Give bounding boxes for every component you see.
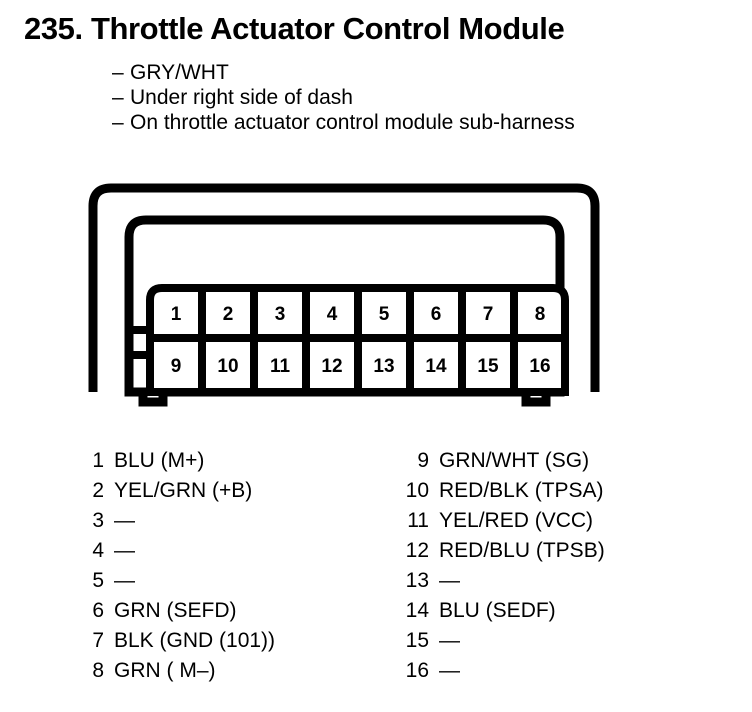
legend-pin-label: —	[104, 536, 135, 566]
legend-row: 11 YEL/RED (VCC)	[385, 506, 715, 536]
note-dash-icon: –	[112, 110, 130, 135]
legend-pin-label: —	[104, 566, 135, 596]
legend-pin-label: GRN ( M–)	[104, 656, 216, 686]
note-item: – GRY/WHT	[112, 60, 712, 85]
legend-pin-label: GRN/WHT (SG)	[429, 446, 589, 476]
legend-pin-number: 15	[385, 626, 429, 656]
legend-row: 6 GRN (SEFD)	[60, 596, 380, 626]
pin-cell-1[interactable]: 1	[171, 304, 182, 325]
page-title: 235. Throttle Actuator Control Module	[24, 11, 564, 47]
pin-cell-9[interactable]: 9	[171, 356, 182, 377]
legend-pin-label: BLU (M+)	[104, 446, 204, 476]
pin-cell-13[interactable]: 13	[373, 356, 394, 377]
legend-pin-label: RED/BLK (TPSA)	[429, 476, 604, 506]
note-dash-icon: –	[112, 60, 130, 85]
legend-row: 1 BLU (M+)	[60, 446, 380, 476]
note-text: On throttle actuator control module sub-…	[130, 110, 575, 135]
note-item: – On throttle actuator control module su…	[112, 110, 712, 135]
legend-pin-number: 4	[60, 536, 104, 566]
pin-cell-2[interactable]: 2	[223, 304, 234, 325]
legend-row: 5 —	[60, 566, 380, 596]
legend-row: 14 BLU (SEDF)	[385, 596, 715, 626]
legend-row: 15 —	[385, 626, 715, 656]
note-text: GRY/WHT	[130, 60, 229, 85]
legend-pin-label: —	[429, 626, 460, 656]
connector-diagram: 1 2 3 4 5 6 7 8 9 10 11 12 13 14 15 16	[80, 180, 610, 420]
pin-cell-16[interactable]: 16	[529, 356, 550, 377]
legend-row: 7 BLK (GND (101))	[60, 626, 380, 656]
legend-pin-number: 5	[60, 566, 104, 596]
legend-pin-number: 16	[385, 656, 429, 686]
legend-row: 12 RED/BLU (TPSB)	[385, 536, 715, 566]
pin-cell-15[interactable]: 15	[477, 356, 499, 377]
legend-pin-number: 12	[385, 536, 429, 566]
pin-legend-right-column: 9 GRN/WHT (SG) 10 RED/BLK (TPSA) 11 YEL/…	[385, 446, 715, 686]
legend-pin-number: 8	[60, 656, 104, 686]
note-item: – Under right side of dash	[112, 85, 712, 110]
legend-pin-number: 1	[60, 446, 104, 476]
connector-notes: – GRY/WHT – Under right side of dash – O…	[112, 60, 712, 135]
pin-cell-12[interactable]: 12	[321, 356, 342, 377]
note-dash-icon: –	[112, 85, 130, 110]
note-text: Under right side of dash	[130, 85, 353, 110]
legend-pin-label: —	[429, 566, 460, 596]
legend-pin-label: YEL/RED (VCC)	[429, 506, 593, 536]
pin-cell-11[interactable]: 11	[270, 356, 291, 377]
legend-pin-number: 13	[385, 566, 429, 596]
pin-cell-14[interactable]: 14	[425, 356, 447, 377]
pin-legend: 1 BLU (M+) 2 YEL/GRN (+B) 3 — 4 — 5 — 6 …	[0, 446, 752, 696]
pin-cell-6[interactable]: 6	[431, 304, 442, 325]
legend-pin-number: 6	[60, 596, 104, 626]
pin-legend-left-column: 1 BLU (M+) 2 YEL/GRN (+B) 3 — 4 — 5 — 6 …	[60, 446, 380, 686]
legend-row: 4 —	[60, 536, 380, 566]
pin-cell-5[interactable]: 5	[379, 304, 390, 325]
pin-cell-10[interactable]: 10	[217, 356, 238, 377]
legend-row: 10 RED/BLK (TPSA)	[385, 476, 715, 506]
legend-pin-label: RED/BLU (TPSB)	[429, 536, 605, 566]
legend-pin-number: 9	[385, 446, 429, 476]
legend-row: 9 GRN/WHT (SG)	[385, 446, 715, 476]
legend-row: 13 —	[385, 566, 715, 596]
legend-pin-label: BLU (SEDF)	[429, 596, 556, 626]
legend-pin-label: —	[429, 656, 460, 686]
legend-row: 2 YEL/GRN (+B)	[60, 476, 380, 506]
legend-pin-number: 2	[60, 476, 104, 506]
legend-pin-label: GRN (SEFD)	[104, 596, 237, 626]
legend-row: 16 —	[385, 656, 715, 686]
legend-pin-number: 10	[385, 476, 429, 506]
legend-row: 3 —	[60, 506, 380, 536]
legend-pin-label: —	[104, 506, 135, 536]
pin-cell-8[interactable]: 8	[535, 304, 546, 325]
legend-pin-number: 11	[385, 506, 429, 536]
legend-row: 8 GRN ( M–)	[60, 656, 380, 686]
legend-pin-label: BLK (GND (101))	[104, 626, 275, 656]
legend-pin-number: 7	[60, 626, 104, 656]
legend-pin-number: 3	[60, 506, 104, 536]
pin-cell-7[interactable]: 7	[483, 304, 494, 325]
legend-pin-number: 14	[385, 596, 429, 626]
pin-cell-4[interactable]: 4	[327, 304, 338, 325]
legend-pin-label: YEL/GRN (+B)	[104, 476, 252, 506]
pin-cell-3[interactable]: 3	[275, 304, 286, 325]
